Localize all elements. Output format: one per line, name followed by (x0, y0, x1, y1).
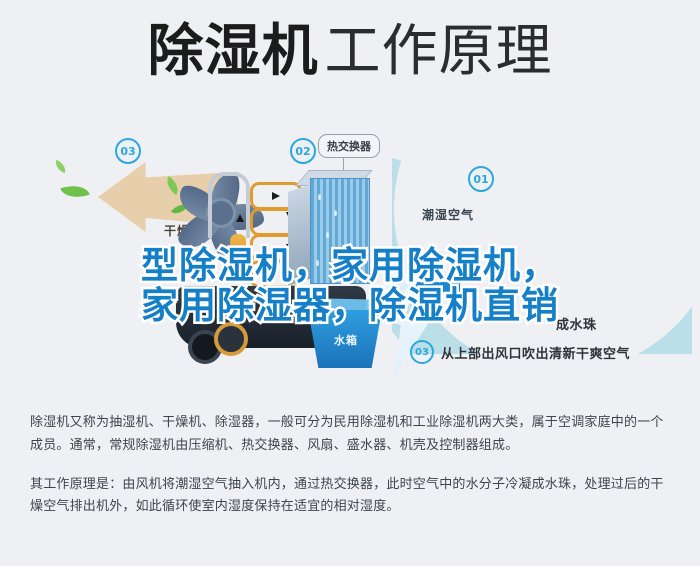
leaf-icon (53, 160, 69, 174)
paragraph-definition: 除湿机又称为抽湿机、干燥机、除湿器，一般可分为民用除湿机和工业除湿机两大类，属于… (30, 412, 670, 458)
page-title: 除湿机工作原理 (0, 24, 700, 80)
water-tank: 水箱 (300, 296, 398, 382)
title-light: 工作原理 (325, 19, 553, 84)
heat-exchanger-block (282, 170, 386, 288)
water-tank-label: 水箱 (334, 332, 358, 348)
step-badge-03: 03 (115, 138, 141, 164)
humid-air-swoosh (392, 124, 692, 354)
partial-text-condensation: 成水珠 (556, 314, 597, 333)
leaf-icon (60, 180, 89, 202)
step-badge-02: 02 (290, 138, 316, 164)
title-strong: 除湿机 (148, 19, 319, 84)
heat-exchanger-callout: 热交换器 (318, 134, 380, 158)
caption-step-text: 从上部出风口吹出清新干爽空气 (441, 343, 630, 362)
page-root: 除湿机工作原理 干燥空气 03 02 01 热交换器 (0, 0, 700, 566)
step-badge-01: 01 (468, 166, 494, 192)
caption-step-03: 03 从上部出风口吹出清新干爽空气 (410, 340, 630, 364)
humid-air-label: 潮湿空气 (422, 206, 474, 223)
caption-step-badge: 03 (410, 340, 434, 364)
paragraph-principle: 其工作原理是：由风机将潮湿空气抽入机内，通过热交换器，此时空气中的水分子冷凝成水… (30, 474, 670, 520)
body-copy: 除湿机又称为抽湿机、干燥机、除湿器，一般可分为民用除湿机和工业除湿机两大类，属于… (30, 412, 670, 535)
wheel-icon (214, 322, 248, 356)
dehumidifier-diagram: 干燥空气 03 02 01 热交换器 (0, 118, 700, 408)
